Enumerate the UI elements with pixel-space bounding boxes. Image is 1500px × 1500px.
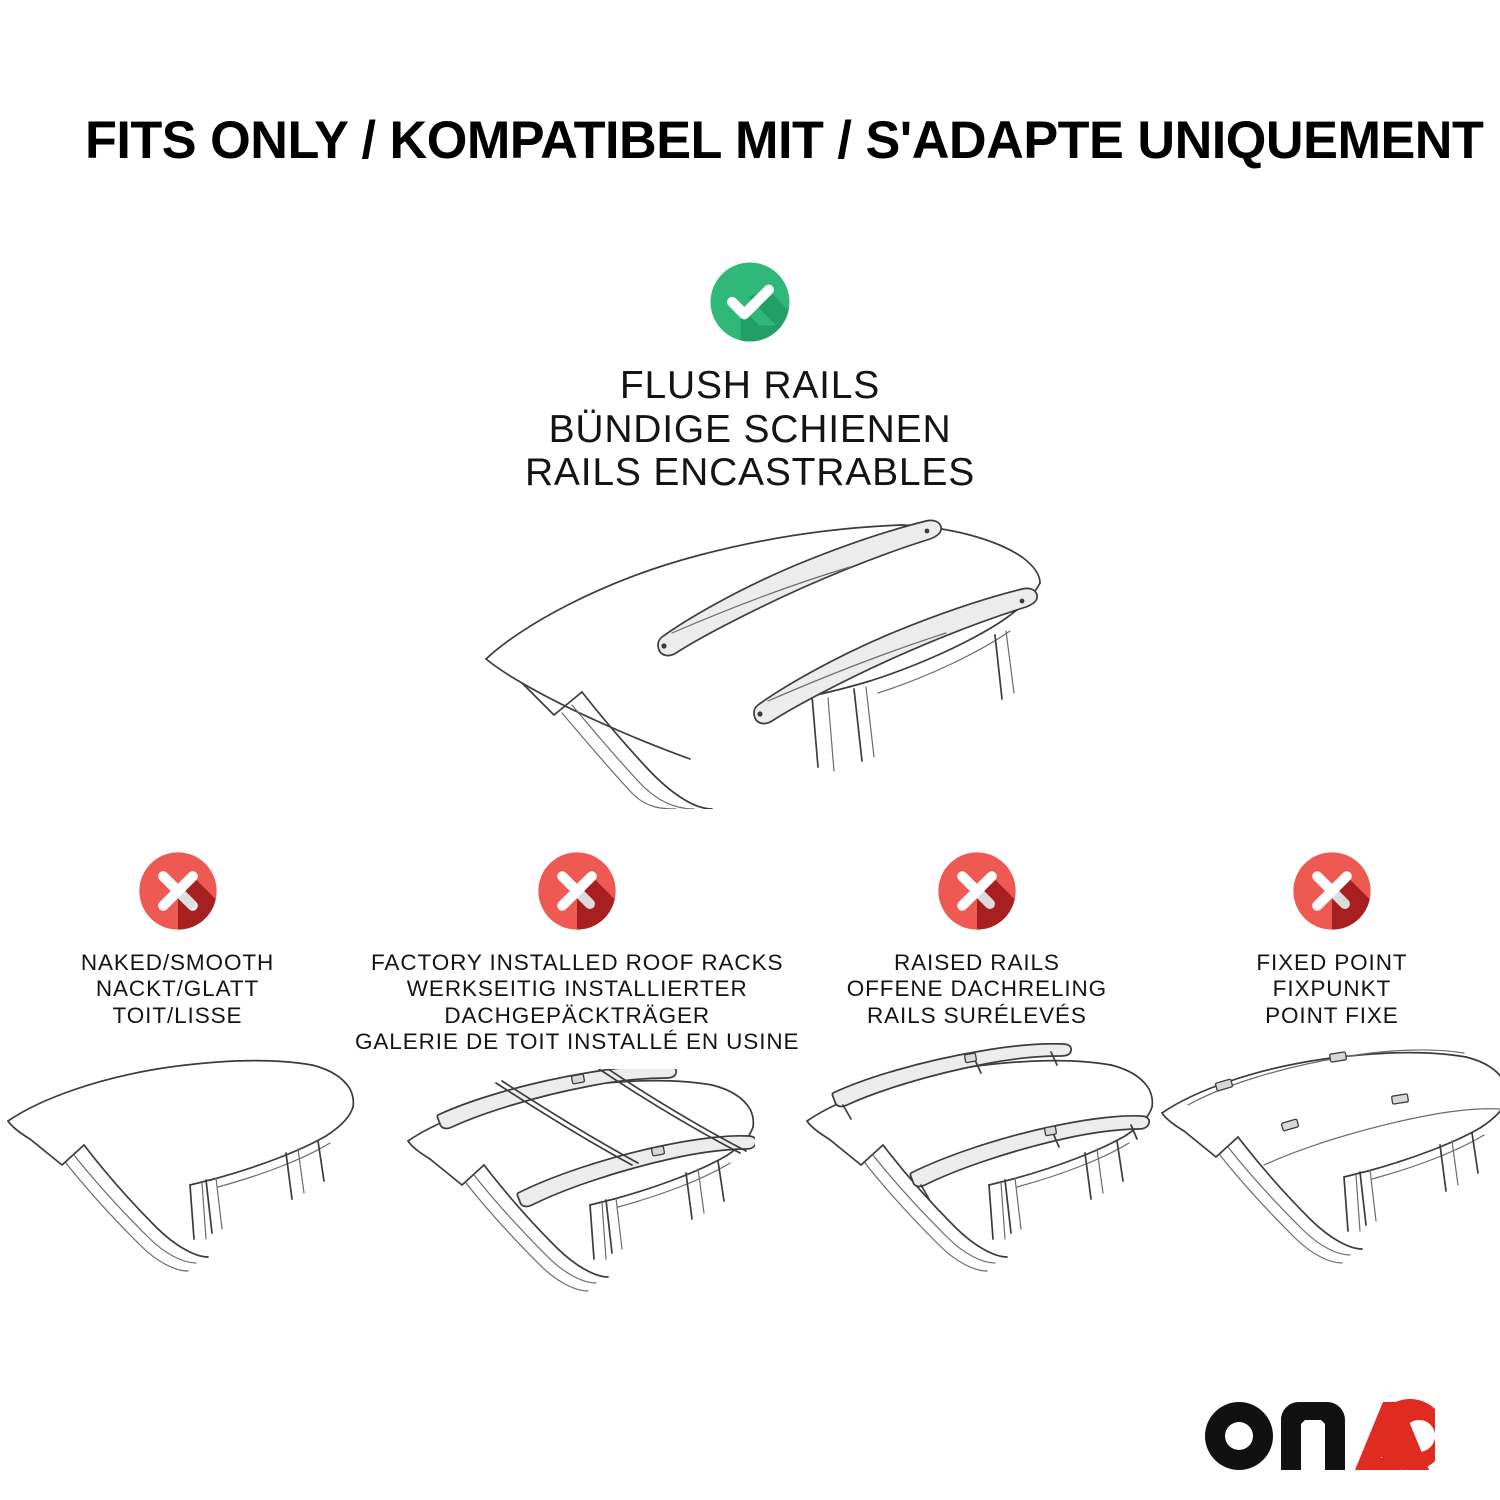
x-circle-icon — [1286, 845, 1378, 937]
label-en: NAKED/SMOOTH — [81, 950, 274, 976]
label-de: FIXPUNKT — [1256, 976, 1407, 1002]
label-en: FIXED POINT — [1256, 950, 1407, 976]
incompatible-item-fixed-point: FIXED POINT FIXPUNKT POINT FIXE — [1154, 845, 1500, 1304]
compatible-section: FLUSH RAILS BÜNDIGE SCHIENEN RAILS ENCAS… — [0, 255, 1500, 809]
car-roof-raised-rails-illustration — [799, 1043, 1154, 1278]
page-title: FITS ONLY / KOMPATIBEL MIT / S'ADAPTE UN… — [85, 114, 1483, 167]
incompatible-item-naked: NAKED/SMOOTH NACKT/GLATT TOIT/LISSE — [0, 845, 355, 1304]
compatible-labels: FLUSH RAILS BÜNDIGE SCHIENEN RAILS ENCAS… — [525, 364, 975, 495]
omac-logo — [1205, 1398, 1455, 1470]
car-roof-factory-rack-illustration — [400, 1069, 755, 1304]
label-de-2: DACHGEPÄCKTRÄGER — [355, 1003, 799, 1029]
compatible-label-fr: RAILS ENCASTRABLES — [525, 451, 975, 495]
label-en: FACTORY INSTALLED ROOF RACKS — [355, 950, 799, 976]
label-fr: TOIT/LISSE — [81, 1003, 274, 1029]
incompatible-item-factory-rack: FACTORY INSTALLED ROOF RACKS WERKSEITIG … — [355, 845, 799, 1304]
compatible-label-en: FLUSH RAILS — [525, 364, 975, 408]
x-circle-icon — [132, 845, 224, 937]
x-circle-icon — [931, 845, 1023, 937]
label-de: WERKSEITIG INSTALLIERTER — [355, 976, 799, 1002]
check-circle-icon — [703, 255, 797, 349]
label-fr: GALERIE DE TOIT INSTALLÉ EN USINE — [355, 1029, 799, 1055]
label-de: OFFENE DACHRELING — [847, 976, 1107, 1002]
compatible-label-de: BÜNDIGE SCHIENEN — [525, 408, 975, 452]
label-fr: RAILS SURÉLEVÉS — [847, 1003, 1107, 1029]
label-en: RAISED RAILS — [847, 950, 1107, 976]
incompatible-section: NAKED/SMOOTH NACKT/GLATT TOIT/LISSE — [0, 845, 1500, 1304]
label-fr: POINT FIXE — [1256, 1003, 1407, 1029]
car-roof-flush-rails-illustration — [450, 509, 1050, 809]
incompatible-labels-factory-rack: FACTORY INSTALLED ROOF RACKS WERKSEITIG … — [355, 950, 799, 1055]
car-roof-naked-illustration — [0, 1043, 355, 1278]
x-circle-icon — [531, 845, 623, 937]
incompatible-labels-naked: NAKED/SMOOTH NACKT/GLATT TOIT/LISSE — [81, 950, 274, 1029]
label-de: NACKT/GLATT — [81, 976, 274, 1002]
incompatible-labels-fixed-point: FIXED POINT FIXPUNKT POINT FIXE — [1256, 950, 1407, 1029]
car-roof-fixed-point-illustration — [1154, 1043, 1500, 1278]
incompatible-item-raised-rails: RAISED RAILS OFFENE DACHRELING RAILS SUR… — [799, 845, 1154, 1304]
incompatible-labels-raised-rails: RAISED RAILS OFFENE DACHRELING RAILS SUR… — [847, 950, 1107, 1029]
page-title-bar: FITS ONLY / KOMPATIBEL MIT / S'ADAPTE UN… — [85, 108, 1425, 172]
